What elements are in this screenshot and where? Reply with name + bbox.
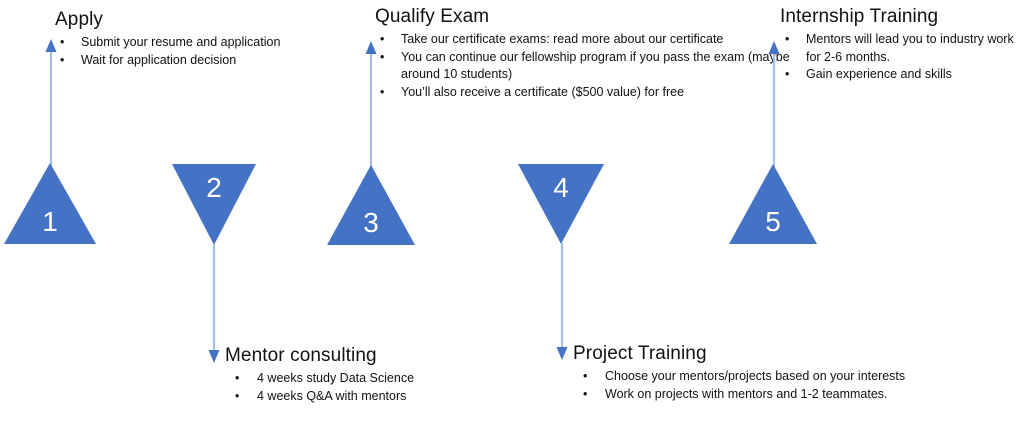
step-3-arrow-up: [364, 40, 378, 168]
bullet-icon: •: [785, 31, 789, 49]
step-1-arrow-up: [44, 38, 58, 166]
step-1-triangle-up[interactable]: 1: [4, 163, 96, 244]
step-5-text-block: Internship Training •Mentors will lead y…: [780, 7, 1024, 84]
step-5-number: 5: [758, 208, 788, 236]
list-item: •4 weeks Q&A with mentors: [225, 388, 525, 406]
list-item: •Work on projects with mentors and 1-2 t…: [573, 386, 973, 404]
step-5-triangle-up[interactable]: 5: [729, 164, 817, 244]
list-item: •Mentors will lead you to industry work …: [780, 31, 1024, 67]
list-item: •Gain experience and skills: [780, 66, 1024, 84]
step-4-triangle-down[interactable]: 4: [518, 164, 604, 244]
step-2-number: 2: [199, 174, 229, 202]
step-3-title: Qualify Exam: [375, 7, 795, 28]
list-item: •Wait for application decision: [55, 52, 345, 70]
bullet-text: You’ll also receive a certificate ($500 …: [401, 85, 684, 99]
bullet-text: Take our certificate exams: read more ab…: [401, 32, 723, 46]
list-item: •You can continue our fellowship program…: [375, 49, 795, 85]
bullet-text: Choose your mentors/projects based on yo…: [605, 369, 905, 383]
step-2-text-block: Mentor consulting •4 weeks study Data Sc…: [225, 346, 525, 405]
step-1-text-block: Apply •Submit your resume and applicatio…: [55, 10, 345, 69]
bullet-icon: •: [380, 49, 384, 67]
list-item: •You’ll also receive a certificate ($500…: [375, 84, 795, 102]
bullet-text: Gain experience and skills: [806, 67, 952, 81]
step-1-number: 1: [35, 208, 65, 236]
list-item: •Submit your resume and application: [55, 34, 345, 52]
step-4-title: Project Training: [573, 344, 973, 365]
bullet-icon: •: [235, 388, 239, 406]
bullet-text: 4 weeks study Data Science: [257, 371, 414, 385]
bullet-text: Wait for application decision: [81, 53, 236, 67]
diagram-canvas: Apply •Submit your resume and applicatio…: [0, 0, 1024, 427]
step-1-title: Apply: [55, 10, 345, 31]
bullet-icon: •: [583, 386, 587, 404]
step-3-bullet-list: •Take our certificate exams: read more a…: [375, 31, 795, 102]
step-3-number: 3: [356, 209, 386, 237]
bullet-icon: •: [380, 31, 384, 49]
bullet-text: You can continue our fellowship program …: [401, 50, 790, 82]
step-3-triangle-up[interactable]: 3: [327, 165, 415, 245]
bullet-text: Mentors will lead you to industry work f…: [806, 32, 1014, 64]
bullet-text: 4 weeks Q&A with mentors: [257, 389, 406, 403]
step-2-title: Mentor consulting: [225, 346, 525, 367]
bullet-icon: •: [60, 52, 64, 70]
step-5-bullet-list: •Mentors will lead you to industry work …: [780, 31, 1024, 84]
step-4-arrow-down: [555, 243, 569, 363]
step-5-title: Internship Training: [780, 7, 1024, 28]
bullet-text: Work on projects with mentors and 1-2 te…: [605, 387, 888, 401]
step-1-bullet-list: •Submit your resume and application •Wai…: [55, 34, 345, 70]
bullet-icon: •: [785, 66, 789, 84]
step-5-arrow-up: [767, 40, 781, 167]
step-4-bullet-list: •Choose your mentors/projects based on y…: [573, 368, 973, 404]
step-2-arrow-down: [207, 244, 221, 364]
step-4-number: 4: [546, 174, 576, 202]
list-item: •Take our certificate exams: read more a…: [375, 31, 795, 49]
step-2-bullet-list: •4 weeks study Data Science •4 weeks Q&A…: [225, 370, 525, 406]
list-item: •4 weeks study Data Science: [225, 370, 525, 388]
step-2-triangle-down[interactable]: 2: [172, 164, 256, 245]
bullet-icon: •: [380, 84, 384, 102]
step-4-text-block: Project Training •Choose your mentors/pr…: [573, 344, 973, 403]
step-3-text-block: Qualify Exam •Take our certificate exams…: [375, 7, 795, 102]
bullet-icon: •: [583, 368, 587, 386]
bullet-text: Submit your resume and application: [81, 35, 280, 49]
list-item: •Choose your mentors/projects based on y…: [573, 368, 973, 386]
bullet-icon: •: [60, 34, 64, 52]
bullet-icon: •: [235, 370, 239, 388]
